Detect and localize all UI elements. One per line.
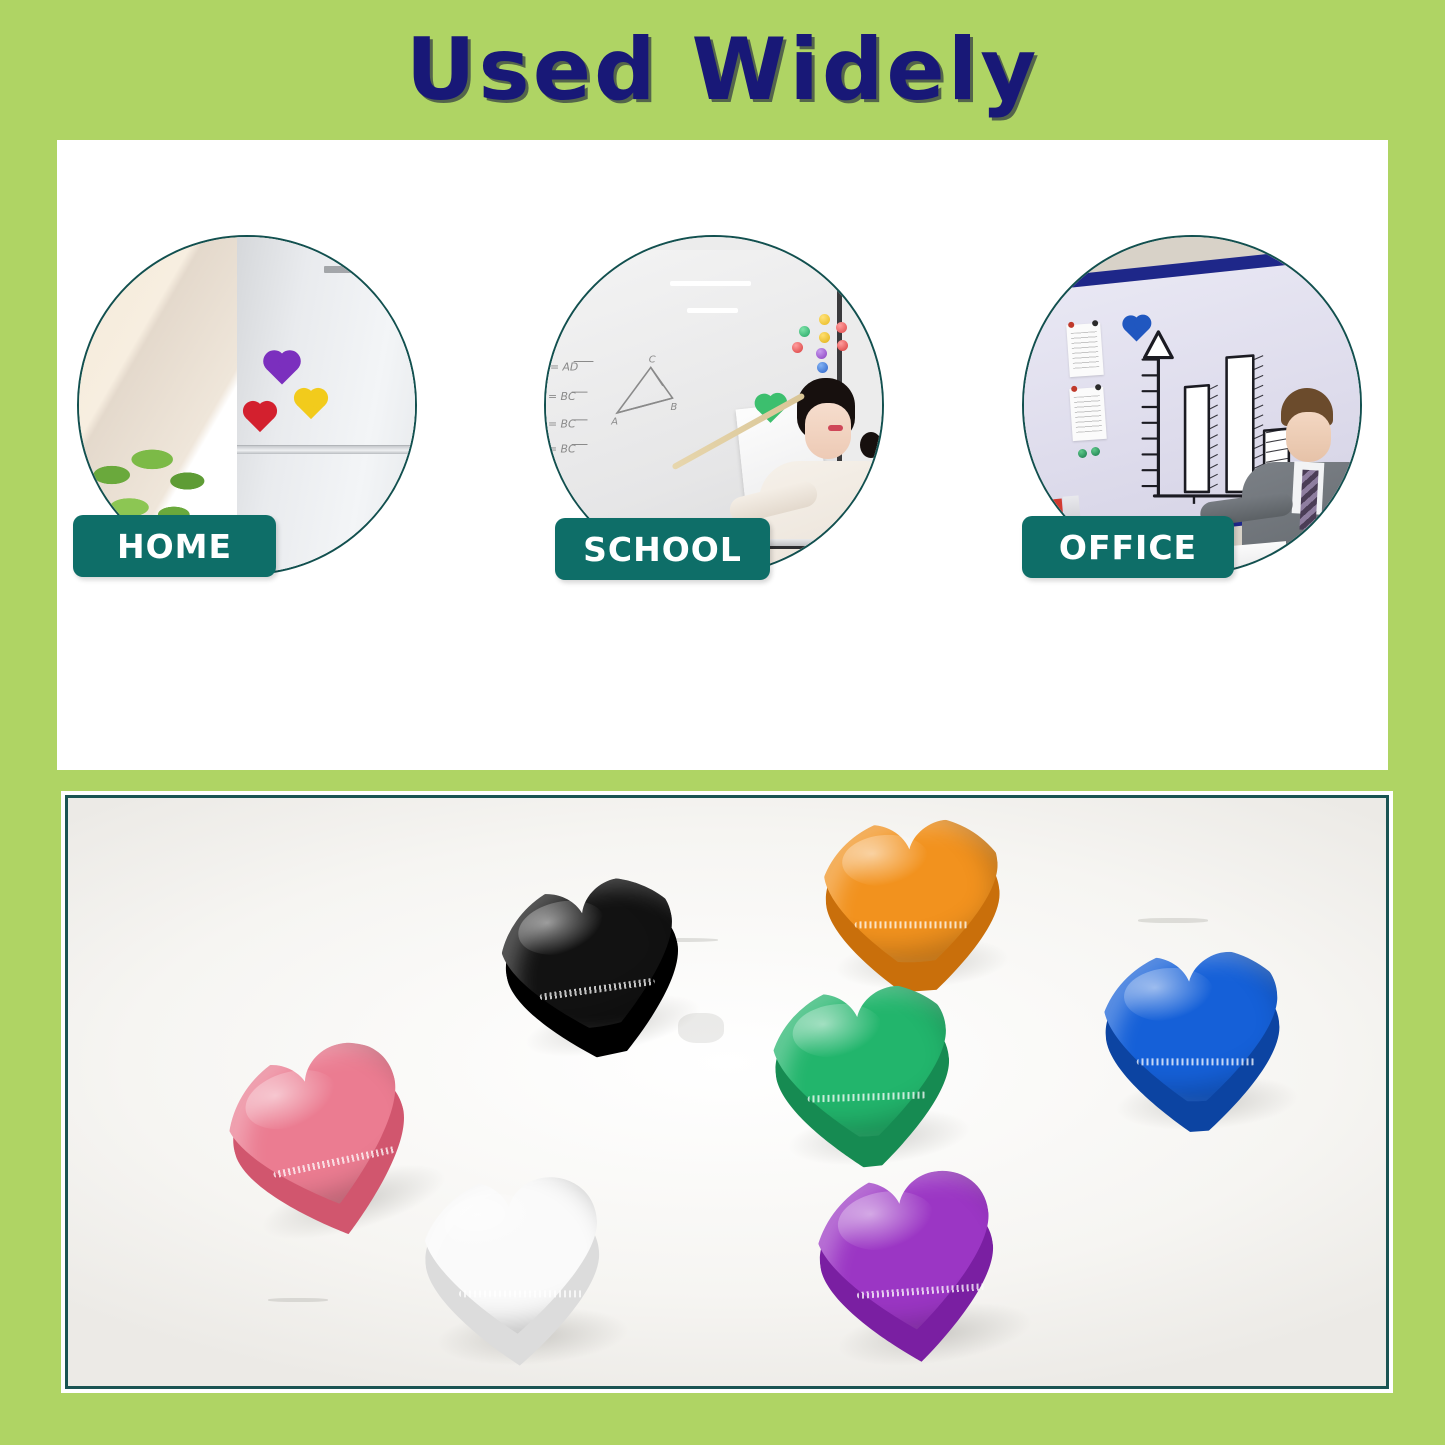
svg-text:B: B bbox=[671, 402, 678, 413]
badge-office-label: OFFICE bbox=[1059, 528, 1197, 567]
title-band: Used Widely bbox=[0, 0, 1445, 140]
white-heart-magnet bbox=[412, 1166, 641, 1369]
page-title: Used Widely bbox=[406, 27, 1040, 113]
scene-office bbox=[1022, 140, 1362, 770]
surface-scuff-4 bbox=[268, 1298, 328, 1302]
svg-text:= AD: = AD bbox=[550, 360, 578, 373]
refrigerator-door-seam bbox=[237, 445, 417, 454]
product-photo-panel bbox=[65, 795, 1389, 1389]
badge-school[interactable]: SCHOOL bbox=[555, 518, 770, 580]
round-magnets-cluster bbox=[791, 314, 855, 374]
svg-text:A: A bbox=[610, 417, 618, 428]
orange-heart-magnet bbox=[812, 809, 1019, 992]
businessman-face bbox=[1286, 412, 1331, 462]
purple-heart-magnet bbox=[801, 1154, 1046, 1375]
teacher-lips bbox=[828, 425, 843, 431]
green-heart-magnet bbox=[759, 973, 981, 1171]
scene-school: A B C = AD = BC = BC = BC bbox=[544, 140, 884, 770]
blue-dot-magnet bbox=[817, 362, 828, 373]
badge-home-label: HOME bbox=[117, 527, 232, 566]
red-dot-magnet-1 bbox=[836, 322, 847, 333]
businessman-tie bbox=[1300, 470, 1319, 531]
teacher-body bbox=[759, 461, 884, 575]
refrigerator-logo bbox=[324, 266, 358, 273]
scene-home bbox=[77, 140, 417, 770]
yellow-dot-magnet bbox=[819, 314, 830, 325]
badge-office[interactable]: OFFICE bbox=[1022, 516, 1234, 578]
badge-school-label: SCHOOL bbox=[583, 530, 742, 569]
scenes-panel: A B C = AD = BC = BC = BC bbox=[57, 140, 1388, 770]
green-dot-magnet bbox=[799, 326, 810, 337]
teacher-face bbox=[805, 403, 851, 459]
red-dot-magnet-2 bbox=[792, 342, 803, 353]
yellow-dot-magnet-2 bbox=[819, 332, 830, 343]
poster-root: Used Widely bbox=[0, 0, 1445, 1445]
svg-text:C: C bbox=[649, 355, 656, 366]
purple-dot-magnet bbox=[816, 348, 827, 359]
surface-scuff-3 bbox=[1138, 918, 1208, 923]
badge-home[interactable]: HOME bbox=[73, 515, 276, 577]
teacher-hair-bun bbox=[860, 432, 882, 458]
blue-heart-magnet bbox=[1092, 941, 1309, 1133]
red-dot-magnet-3 bbox=[837, 340, 848, 351]
